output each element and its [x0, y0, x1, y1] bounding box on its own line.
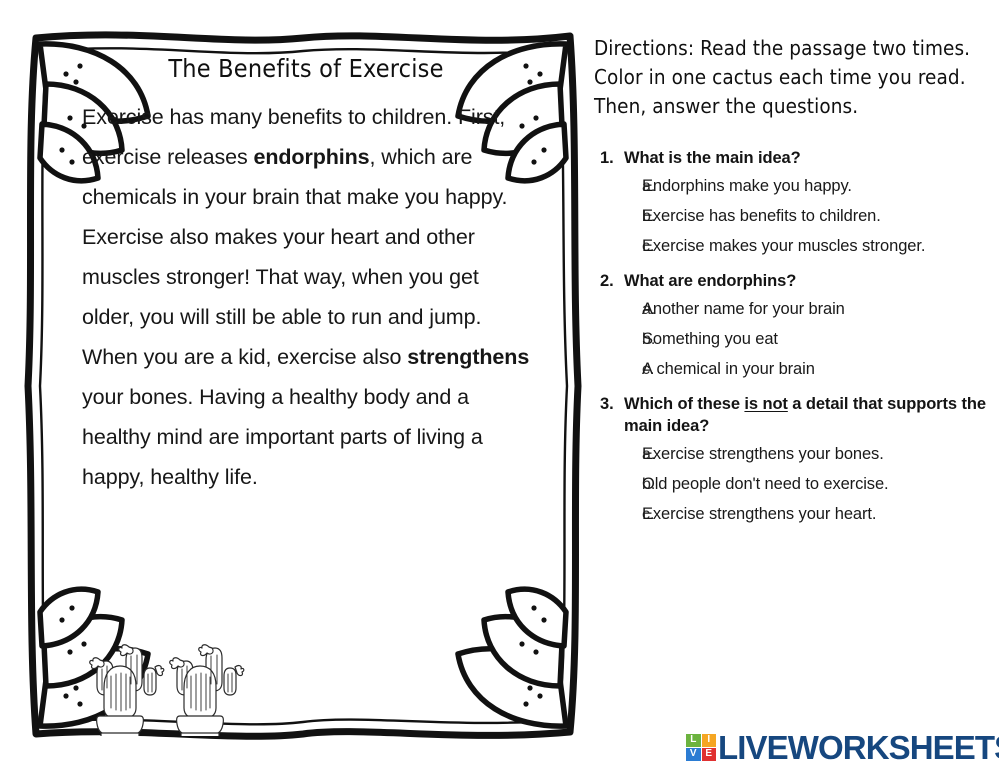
- answer-choice-text: Exercise strengthens your bones.: [642, 444, 986, 465]
- answer-choice-letter: c.: [594, 359, 642, 380]
- passage-run: , which are chemicals in your brain that…: [82, 145, 507, 369]
- answer-choice-text: Exercise makes your muscles stronger.: [642, 236, 986, 257]
- cactus-2: [170, 645, 244, 719]
- passage-panel: The Benefits of Exercise Exercise has ma…: [22, 26, 584, 744]
- answer-choice[interactable]: c.Exercise makes your muscles stronger.: [594, 236, 986, 257]
- logo-tile-i: I: [702, 734, 717, 747]
- answer-choice[interactable]: a.Another name for your brain: [594, 299, 986, 320]
- question-block: 3.Which of these is not a detail that su…: [594, 393, 986, 525]
- question-prompt-before: What are endorphins?: [624, 272, 796, 290]
- answer-choices: a.Exercise strengthens your bones.b.Old …: [594, 444, 986, 525]
- answer-choice[interactable]: b.Something you eat: [594, 329, 986, 350]
- passage-bold-term: endorphins: [253, 145, 369, 169]
- logo-tile-e: E: [702, 748, 717, 761]
- question-row: 1.What is the main idea?: [594, 147, 986, 169]
- liveworksheets-logo-mark: LIVE: [686, 734, 716, 761]
- question-number: 1.: [594, 147, 624, 169]
- answer-choice-letter: a.: [594, 444, 642, 465]
- question-row: 3.Which of these is not a detail that su…: [594, 393, 986, 437]
- question-prompt: What are endorphins?: [624, 270, 986, 292]
- page-title: The Benefits of Exercise: [82, 54, 530, 83]
- answer-choice[interactable]: c.Exercise strengthens your heart.: [594, 504, 986, 525]
- answer-choice-text: Another name for your brain: [642, 299, 986, 320]
- liveworksheets-logo-text: LIVEWORKSHEETS: [718, 731, 999, 764]
- answer-choice-letter: c.: [594, 504, 642, 525]
- answer-choice[interactable]: a.Endorphins make you happy.: [594, 176, 986, 197]
- question-prompt-before: Which of these: [624, 395, 744, 413]
- answer-choice-text: Something you eat: [642, 329, 986, 350]
- passage-run: your bones. Having a healthy body and a …: [82, 385, 483, 489]
- answer-choice[interactable]: c.A chemical in your brain: [594, 359, 986, 380]
- answer-choices: a.Another name for your brainb.Something…: [594, 299, 986, 380]
- answer-choice-letter: b.: [594, 474, 642, 495]
- question-prompt-before: What is the main idea?: [624, 149, 801, 167]
- questions-list: 1.What is the main idea?a.Endorphins mak…: [594, 147, 986, 525]
- question-block: 2.What are endorphins?a.Another name for…: [594, 270, 986, 380]
- logo-tile-v: V: [686, 748, 701, 761]
- question-number: 3.: [594, 393, 624, 415]
- directions-text: Directions: Read the passage two times. …: [594, 34, 986, 121]
- answer-choice-text: A chemical in your brain: [642, 359, 986, 380]
- answer-choice-text: Old people don't need to exercise.: [642, 474, 986, 495]
- answer-choice-letter: a.: [594, 299, 642, 320]
- question-prompt: What is the main idea?: [624, 147, 986, 169]
- answer-choice[interactable]: b.Old people don't need to exercise.: [594, 474, 986, 495]
- liveworksheets-logo: LIVE LIVEWORKSHEETS: [686, 729, 999, 765]
- answer-choice-letter: c.: [594, 236, 642, 257]
- question-row: 2.What are endorphins?: [594, 270, 986, 292]
- answer-choice-letter: a.: [594, 176, 642, 197]
- answer-choices: a.Endorphins make you happy.b.Exercise h…: [594, 176, 986, 257]
- right-panel: Directions: Read the passage two times. …: [594, 34, 986, 734]
- answer-choice-text: Exercise strengthens your heart.: [642, 504, 986, 525]
- answer-choice-text: Endorphins make you happy.: [642, 176, 986, 197]
- passage-text: Exercise has many benefits to children. …: [82, 97, 530, 497]
- answer-choice[interactable]: a.Exercise strengthens your bones.: [594, 444, 986, 465]
- question-number: 2.: [594, 270, 624, 292]
- answer-choice-letter: b.: [594, 206, 642, 227]
- answer-choice-letter: b.: [594, 329, 642, 350]
- question-prompt: Which of these is not a detail that supp…: [624, 393, 986, 437]
- question-block: 1.What is the main idea?a.Endorphins mak…: [594, 147, 986, 257]
- answer-choice[interactable]: b.Exercise has benefits to children.: [594, 206, 986, 227]
- answer-choice-text: Exercise has benefits to children.: [642, 206, 986, 227]
- cactus-1: [90, 645, 164, 719]
- passage-bold-term: strengthens: [407, 345, 529, 369]
- cactus-illustration: [80, 616, 260, 736]
- question-prompt-emphasis: is not: [744, 395, 787, 413]
- logo-tile-l: L: [686, 734, 701, 747]
